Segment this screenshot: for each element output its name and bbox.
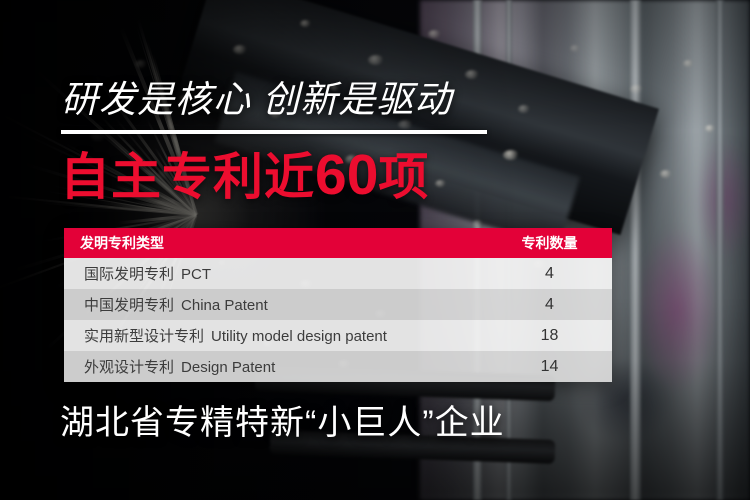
table-header-row: 发明专利类型 专利数量 xyxy=(64,228,612,258)
patent-type-en: PCT xyxy=(181,266,211,283)
patent-type-cn: 实用新型设计专利 xyxy=(84,328,204,345)
table-cell-type: 外观设计专利Design Patent xyxy=(64,356,487,377)
table-cell-type: 中国发明专利China Patent xyxy=(64,294,487,315)
table-cell-count: 18 xyxy=(487,327,612,345)
table-cell-count: 4 xyxy=(487,296,612,314)
table-row: 国际发明专利PCT4 xyxy=(64,258,612,289)
patent-count-number: 60 xyxy=(315,143,378,207)
headline-divider xyxy=(61,130,487,134)
table-row: 外观设计专利Design Patent14 xyxy=(64,351,612,382)
table-cell-type: 国际发明专利PCT xyxy=(64,263,487,284)
patent-type-en: Utility model design patent xyxy=(211,328,387,345)
subheadline-prefix: 自主专利近 xyxy=(60,149,315,205)
table-cell-count: 4 xyxy=(487,265,612,283)
table-header-type: 发明专利类型 xyxy=(64,233,487,253)
patent-type-en: Design Patent xyxy=(181,359,275,376)
patent-type-en: China Patent xyxy=(181,297,268,314)
table-body: 国际发明专利PCT4中国发明专利China Patent4实用新型设计专利Uti… xyxy=(64,258,612,382)
patent-table: 发明专利类型 专利数量 国际发明专利PCT4中国发明专利China Patent… xyxy=(64,228,612,382)
patent-banner: 研发是核心 创新是驱动 自主专利近60项 发明专利类型 专利数量 国际发明专利P… xyxy=(0,0,750,500)
table-row: 中国发明专利China Patent4 xyxy=(64,289,612,320)
table-header-count: 专利数量 xyxy=(487,233,612,253)
banner-content: 研发是核心 创新是驱动 自主专利近60项 发明专利类型 专利数量 国际发明专利P… xyxy=(0,0,750,500)
headline-text: 研发是核心 创新是驱动 xyxy=(61,78,452,122)
table-row: 实用新型设计专利Utility model design patent18 xyxy=(64,320,612,351)
patent-type-cn: 外观设计专利 xyxy=(84,359,174,376)
patent-type-cn: 中国发明专利 xyxy=(84,297,174,314)
table-cell-type: 实用新型设计专利Utility model design patent xyxy=(64,325,487,346)
subheadline-text: 自主专利近60项 xyxy=(60,146,429,206)
subheadline-suffix: 项 xyxy=(378,149,429,205)
patent-type-cn: 国际发明专利 xyxy=(84,266,174,283)
table-cell-count: 14 xyxy=(487,358,612,376)
footer-text: 湖北省专精特新“小巨人”企业 xyxy=(60,402,505,444)
